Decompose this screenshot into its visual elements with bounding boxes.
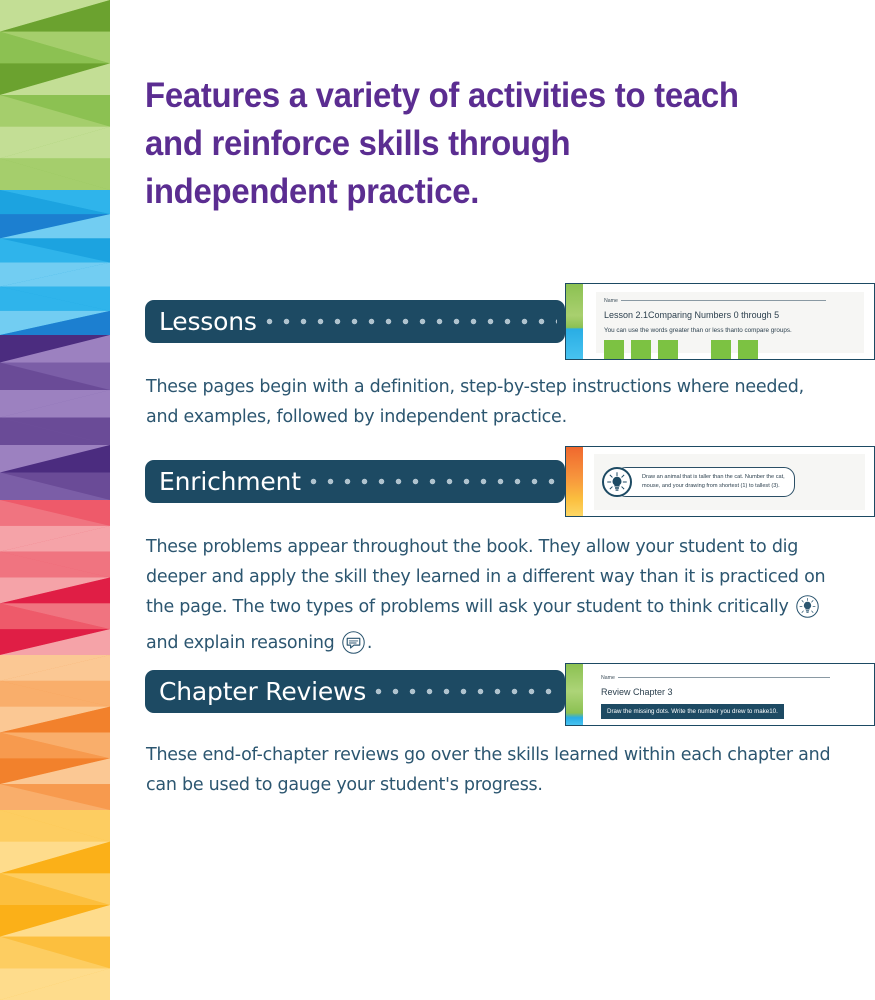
section-label-text: Lessons	[159, 307, 257, 336]
prompt-line-1: Draw an animal that is taller than the c…	[642, 474, 785, 480]
lesson-card-sentence: You can use the words greater than or le…	[604, 327, 856, 334]
decorative-color-strip	[0, 0, 110, 1000]
green-swatch	[658, 340, 678, 360]
decor-band-orange	[0, 655, 110, 810]
card-inner: Name Review Chapter 3 Draw the missing d…	[583, 664, 874, 725]
swatch-row	[604, 340, 856, 360]
lightbulb-icon	[796, 595, 819, 628]
section-label-lessons[interactable]: Lessons	[145, 300, 565, 343]
section-label-chapter-reviews[interactable]: Chapter Reviews	[145, 670, 565, 713]
chapter-review-thumbnail-card[interactable]: Name Review Chapter 3 Draw the missing d…	[565, 663, 875, 726]
enrichment-prompt-row: Draw an animal that is taller than the c…	[594, 454, 865, 510]
card-sheet: Draw an animal that is taller than the c…	[594, 454, 865, 510]
prompt-line-2: mouse, and your drawing from shortest (1…	[642, 483, 780, 489]
chapter-reviews-description: These end-of-chapter reviews go over the…	[146, 740, 836, 800]
card-sheet: Name Review Chapter 3 Draw the missing d…	[595, 671, 866, 721]
green-swatch	[711, 340, 731, 360]
green-swatch	[738, 340, 758, 360]
enrichment-prompt-bubble: Draw an animal that is taller than the c…	[615, 467, 795, 497]
section-label-text: Enrichment	[159, 467, 301, 496]
lesson-card-title: Lesson 2.1Comparing Numbers 0 through 5	[604, 310, 856, 320]
enrichment-thumbnail-card[interactable]: Draw an animal that is taller than the c…	[565, 446, 875, 517]
dotted-leader	[261, 318, 557, 325]
decor-band-yellow	[0, 810, 110, 1000]
lesson-thumbnail-card[interactable]: Name Lesson 2.1Comparing Numbers 0 throu…	[565, 283, 875, 360]
enrichment-description: These problems appear throughout the boo…	[146, 532, 836, 664]
card-edge-strip	[566, 284, 583, 359]
section-label-text: Chapter Reviews	[159, 677, 366, 706]
enrichment-description-part2: and explain reasoning	[146, 633, 335, 653]
name-field-row: Name	[601, 675, 860, 681]
green-swatch	[631, 340, 651, 360]
decor-band-green	[0, 0, 110, 190]
card-inner: Draw an animal that is taller than the c…	[583, 447, 874, 516]
name-rule	[618, 677, 830, 678]
section-label-enrichment[interactable]: Enrichment	[145, 460, 565, 503]
card-edge-strip	[566, 664, 583, 725]
review-instruction-banner: Draw the missing dots. Write the number …	[601, 704, 784, 719]
decor-band-purple	[0, 335, 110, 500]
name-label: Name	[604, 298, 618, 304]
enrichment-description-part3: .	[367, 633, 372, 653]
speech-bubble-icon	[342, 631, 365, 664]
decor-band-red	[0, 500, 110, 655]
card-inner: Name Lesson 2.1Comparing Numbers 0 throu…	[583, 284, 874, 359]
decor-band-blue	[0, 190, 110, 335]
name-label: Name	[601, 675, 615, 681]
card-sheet: Name Lesson 2.1Comparing Numbers 0 throu…	[596, 292, 864, 353]
review-card-title: Review Chapter 3	[601, 687, 860, 697]
dotted-leader	[370, 688, 557, 695]
name-rule	[621, 300, 826, 301]
enrichment-description-part1: These problems appear throughout the boo…	[146, 537, 825, 617]
green-swatch	[604, 340, 624, 360]
name-field-row: Name	[604, 298, 856, 304]
dotted-leader	[305, 478, 557, 485]
card-edge-strip	[566, 447, 583, 516]
page-content: Features a variety of activities to teac…	[110, 0, 875, 1000]
lightbulb-icon	[602, 467, 632, 497]
lessons-description: These pages begin with a definition, ste…	[146, 372, 828, 432]
page-title: Features a variety of activities to teac…	[145, 72, 756, 216]
